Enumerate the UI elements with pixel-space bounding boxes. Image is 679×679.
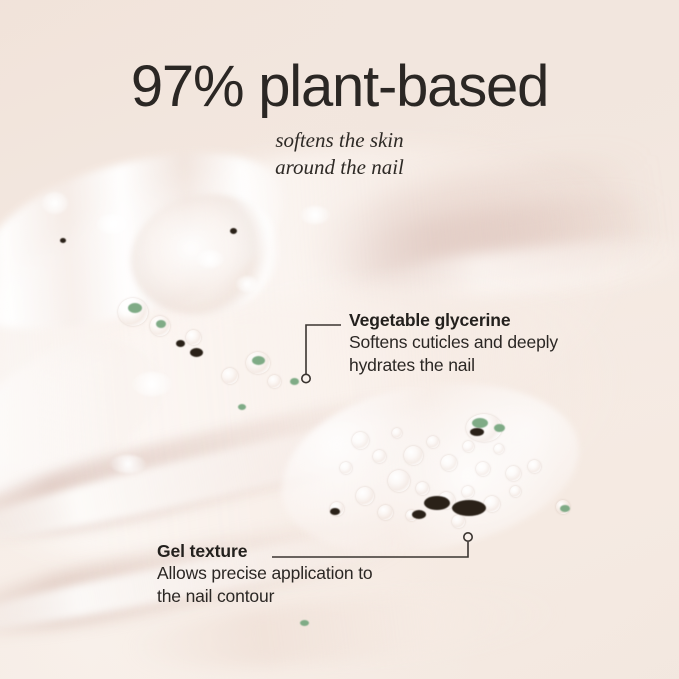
gel-bubble <box>378 505 393 520</box>
green-fleck <box>128 303 142 313</box>
callout-title-gel-texture: Gel texture <box>157 541 487 562</box>
callout-body-line-2: the nail contour <box>157 585 487 608</box>
specular-glint <box>196 250 224 268</box>
gel-bubble <box>427 436 439 448</box>
gel-bubble <box>222 368 238 384</box>
gel-bubble <box>268 375 281 388</box>
specular-glint <box>132 372 172 396</box>
gel-bubble <box>462 486 474 498</box>
green-fleck <box>238 404 246 410</box>
gel-bubble <box>186 330 201 345</box>
callout-body-vegetable-glycerine: Softens cuticles and deeply hydrates the… <box>349 331 649 377</box>
green-fleck <box>560 505 570 512</box>
gel-ribbon-b <box>0 390 498 559</box>
gel-bubble <box>356 487 374 505</box>
callout-vegetable-glycerine: Vegetable glycerine Softens cuticles and… <box>349 310 649 378</box>
dark-fleck <box>330 508 340 515</box>
gel-bubble <box>476 462 490 476</box>
gel-bubble <box>392 428 402 438</box>
gel-bubble <box>404 446 423 465</box>
specular-glint <box>42 192 68 214</box>
dark-fleck <box>452 500 486 516</box>
callout-gel-texture: Gel texture Allows precise application t… <box>157 541 487 609</box>
specular-glint <box>300 206 330 224</box>
gel-bubble <box>506 466 521 481</box>
gel-bubble <box>510 486 521 497</box>
gel-bubble <box>452 515 465 528</box>
callout-body-line-1: Softens cuticles and deeply <box>349 331 649 354</box>
gel-bubble <box>441 455 457 471</box>
gel-bubble <box>340 462 352 474</box>
gel-bubble <box>484 496 500 512</box>
gel-bubble <box>494 444 504 454</box>
subtitle: softens the skin around the nail <box>0 127 679 181</box>
callout-title-vegetable-glycerine: Vegetable glycerine <box>349 310 649 331</box>
specular-glint <box>96 214 130 234</box>
dark-fleck <box>176 340 185 347</box>
green-fleck <box>494 424 505 432</box>
gel-bubble <box>528 460 541 473</box>
callout-body-line-2: hydrates the nail <box>349 354 649 377</box>
dark-fleck <box>60 238 66 243</box>
leader-line-glycerine <box>306 325 341 374</box>
green-fleck <box>156 320 166 328</box>
callout-body-gel-texture: Allows precise application to the nail c… <box>157 562 487 608</box>
gel-bubble <box>373 450 386 463</box>
specular-glint <box>236 276 258 292</box>
green-fleck <box>472 418 488 428</box>
gel-ribbon-a <box>0 368 501 562</box>
dark-fleck <box>470 428 484 436</box>
green-fleck <box>252 356 265 365</box>
dark-fleck <box>190 348 203 357</box>
dark-fleck <box>424 496 450 510</box>
leader-dot-gel <box>464 533 472 541</box>
leader-dot-glycerine <box>302 374 310 382</box>
gel-streak-upper-right-2 <box>327 182 679 298</box>
green-fleck <box>290 378 299 385</box>
gel-bubble <box>416 482 429 495</box>
subtitle-line-2: around the nail <box>0 154 679 181</box>
green-fleck <box>300 620 309 626</box>
gel-bubble <box>352 432 369 449</box>
callout-body-line-1: Allows precise application to <box>157 562 487 585</box>
gel-droplet-spike <box>0 312 185 518</box>
dark-fleck <box>230 228 237 234</box>
gel-highlight-upper <box>359 230 679 311</box>
dark-fleck <box>412 510 426 519</box>
subtitle-line-1: softens the skin <box>0 127 679 154</box>
specular-glint <box>110 455 146 473</box>
gel-bubble <box>463 441 474 452</box>
page-title: 97% plant-based <box>0 58 679 116</box>
product-feature-graphic: 97% plant-based softens the skin around … <box>0 0 679 679</box>
gel-bubble <box>388 470 410 492</box>
